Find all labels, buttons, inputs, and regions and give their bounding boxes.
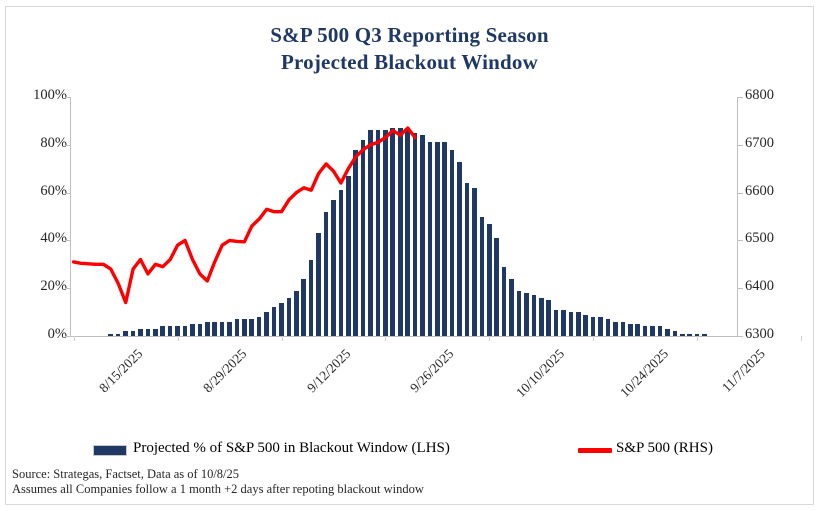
y-tick-right-0: 6300 — [745, 326, 774, 343]
y-tick-right-4: 6700 — [745, 135, 774, 152]
x-tick-mark-1 — [178, 336, 179, 341]
x-tick-label-6: 11/7/2025 — [719, 346, 769, 396]
x-tick-mark-6 — [697, 336, 698, 341]
y-tick-left-2: 40% — [40, 230, 67, 247]
chart-title-line-2: Projected Blackout Window — [0, 49, 819, 76]
y-tick-left-3: 60% — [40, 183, 67, 200]
footnote-assumption: Assumes all Companies follow a 1 month +… — [12, 482, 712, 497]
legend-swatch-line — [578, 448, 612, 453]
border-bottom — [5, 504, 814, 505]
chart-footnotes: Source: Strategas, Factset, Data as of 1… — [12, 467, 712, 497]
border-right — [813, 6, 814, 505]
x-tick-label-2: 9/12/2025 — [304, 346, 354, 396]
y-tick-mark-right-3 — [738, 193, 743, 194]
border-top — [5, 6, 814, 7]
y-tick-right-1: 6400 — [745, 278, 774, 295]
chart-legend: Projected % of S&P 500 in Blackout Windo… — [0, 440, 819, 462]
y-tick-mark-right-4 — [738, 145, 743, 146]
x-tick-label-5: 10/24/2025 — [617, 346, 672, 401]
x-tick-mark-0 — [74, 336, 75, 341]
x-tick-label-4: 10/10/2025 — [513, 346, 568, 401]
x-tick-mark-2 — [282, 336, 283, 341]
x-tick-mark-4 — [489, 336, 490, 341]
x-axis — [70, 336, 738, 337]
y-tick-right-2: 6500 — [745, 230, 774, 247]
legend-swatch-bar — [93, 445, 127, 456]
x-tick-mark-7 — [801, 336, 802, 341]
footnote-source: Source: Strategas, Factset, Data as of 1… — [12, 467, 712, 482]
border-left — [5, 6, 6, 505]
x-tick-mark-5 — [593, 336, 594, 341]
y-tick-mark-left-0 — [65, 336, 70, 337]
x-tick-label-3: 9/26/2025 — [407, 346, 457, 396]
y-tick-right-3: 6600 — [745, 183, 774, 200]
x-tick-mark-3 — [385, 336, 386, 341]
y-tick-mark-right-5 — [738, 97, 743, 98]
y-tick-mark-right-1 — [738, 288, 743, 289]
legend-label-line: S&P 500 (RHS) — [616, 440, 713, 457]
x-tick-label-1: 8/29/2025 — [200, 346, 250, 396]
chart-title-line-1: S&P 500 Q3 Reporting Season — [270, 23, 548, 47]
y-tick-left-5: 100% — [33, 87, 67, 104]
legend-label-bar: Projected % of S&P 500 in Blackout Windo… — [133, 440, 450, 457]
line-series — [70, 97, 738, 336]
chart-title: S&P 500 Q3 Reporting Season Projected Bl… — [0, 22, 819, 76]
y-tick-right-5: 6800 — [745, 87, 774, 104]
y-tick-left-0: 0% — [48, 326, 67, 343]
y-tick-mark-right-2 — [738, 240, 743, 241]
y-tick-left-4: 80% — [40, 135, 67, 152]
x-tick-label-0: 8/15/2025 — [96, 346, 146, 396]
chart-canvas: S&P 500 Q3 Reporting Season Projected Bl… — [0, 0, 819, 511]
y-tick-mark-right-0 — [738, 336, 743, 337]
y-tick-left-1: 20% — [40, 278, 67, 295]
sp500-line — [74, 128, 415, 302]
